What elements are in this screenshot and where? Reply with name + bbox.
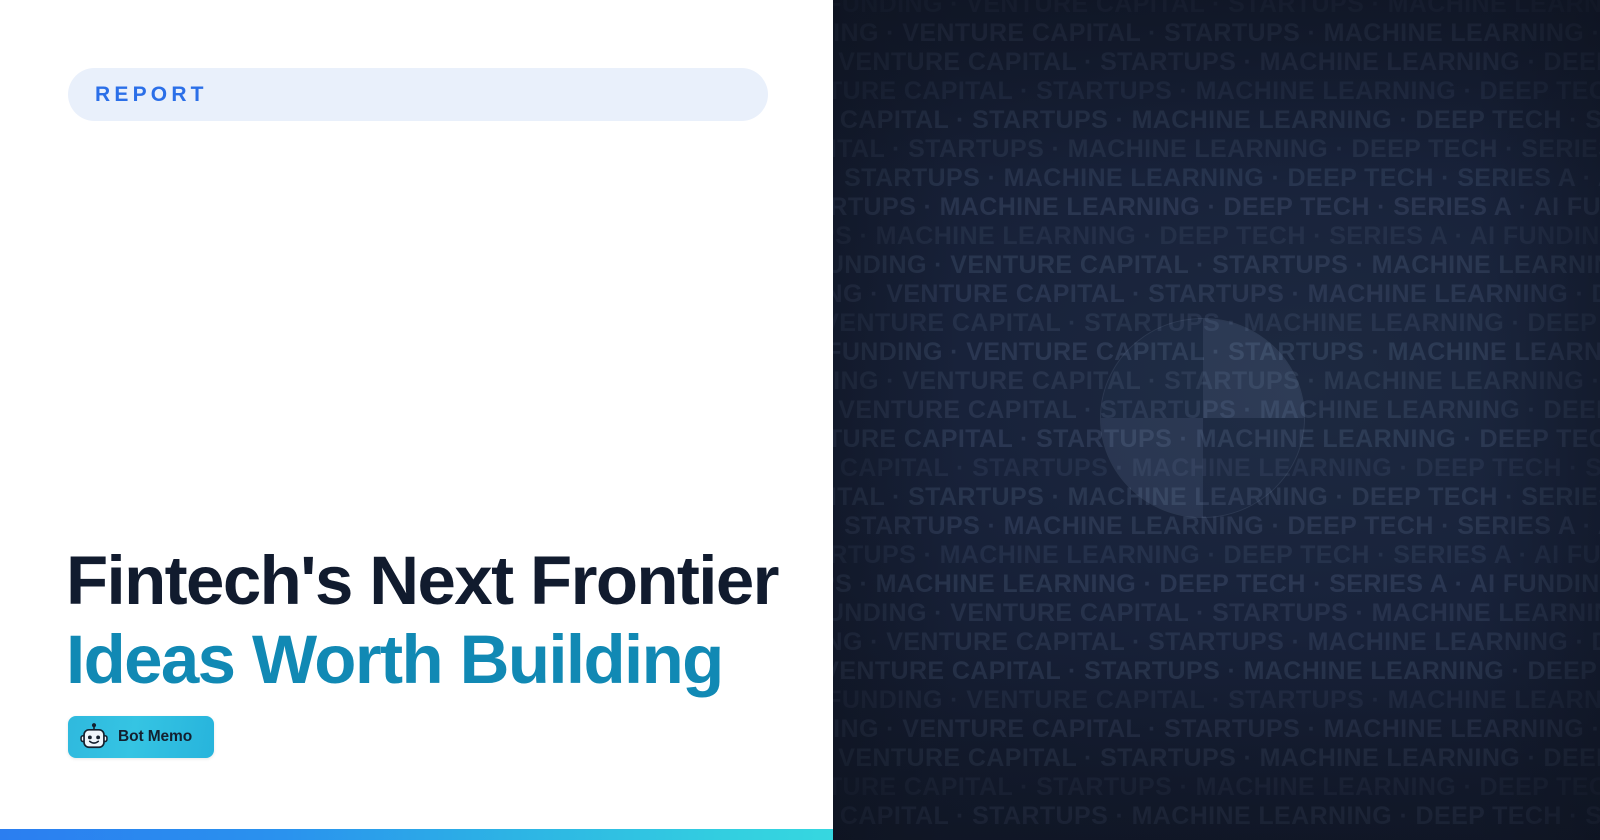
ticker-row: AI FUNDING · VENTURE CAPITAL · STARTUPS … — [833, 688, 1600, 713]
ticker-row: AI FUNDING · VENTURE CAPITAL · STARTUPS … — [833, 775, 1600, 800]
quadrant-circle-motif — [1100, 318, 1305, 518]
bottom-accent-bar — [0, 829, 833, 840]
ticker-row: AI FUNDING · VENTURE CAPITAL · STARTUPS … — [833, 21, 1600, 46]
ticker-row: AI FUNDING · VENTURE CAPITAL · STARTUPS … — [833, 166, 1600, 191]
report-cover-slide: AI FUNDING · VENTURE CAPITAL · STARTUPS … — [0, 0, 1600, 840]
ticker-row: AI FUNDING · VENTURE CAPITAL · STARTUPS … — [833, 224, 1600, 249]
page-title-line-primary: Fintech's Next Frontier — [66, 546, 826, 615]
ticker-row: AI FUNDING · VENTURE CAPITAL · STARTUPS … — [833, 50, 1600, 75]
circle-quadrant-bottom-right — [1203, 418, 1305, 517]
ticker-row: AI FUNDING · VENTURE CAPITAL · STARTUPS … — [833, 253, 1600, 278]
ticker-row: AI FUNDING · VENTURE CAPITAL · STARTUPS … — [833, 630, 1600, 655]
robot-icon — [79, 722, 109, 752]
ticker-row: AI FUNDING · VENTURE CAPITAL · STARTUPS … — [833, 804, 1600, 829]
decorative-right-panel: AI FUNDING · VENTURE CAPITAL · STARTUPS … — [833, 0, 1600, 840]
ticker-row: AI FUNDING · VENTURE CAPITAL · STARTUPS … — [833, 659, 1600, 684]
brand-logo-badge[interactable]: Bot Memo — [68, 716, 214, 758]
ticker-row: AI FUNDING · VENTURE CAPITAL · STARTUPS … — [833, 282, 1600, 307]
circle-quadrant-top-right — [1203, 319, 1305, 418]
page-title-line-accent: Ideas Worth Building — [66, 625, 826, 694]
ticker-row: AI FUNDING · VENTURE CAPITAL · STARTUPS … — [833, 108, 1600, 133]
ticker-row: AI FUNDING · VENTURE CAPITAL · STARTUPS … — [833, 79, 1600, 104]
ticker-row: AI FUNDING · VENTURE CAPITAL · STARTUPS … — [833, 514, 1600, 539]
ticker-row: AI FUNDING · VENTURE CAPITAL · STARTUPS … — [833, 746, 1600, 771]
report-kicker-label: REPORT — [95, 83, 208, 107]
brand-logo-label: Bot Memo — [118, 728, 192, 746]
ticker-row: AI FUNDING · VENTURE CAPITAL · STARTUPS … — [833, 717, 1600, 742]
ticker-row: AI FUNDING · VENTURE CAPITAL · STARTUPS … — [833, 0, 1600, 17]
ticker-row: AI FUNDING · VENTURE CAPITAL · STARTUPS … — [833, 601, 1600, 626]
ticker-row: AI FUNDING · VENTURE CAPITAL · STARTUPS … — [833, 572, 1600, 597]
page-title: Fintech's Next Frontier Ideas Worth Buil… — [66, 546, 826, 694]
content-left-panel: REPORT Fintech's Next Frontier Ideas Wor… — [0, 0, 833, 840]
ticker-row: AI FUNDING · VENTURE CAPITAL · STARTUPS … — [833, 195, 1600, 220]
circle-quadrant-bottom-left — [1101, 418, 1203, 517]
ticker-row: AI FUNDING · VENTURE CAPITAL · STARTUPS … — [833, 137, 1600, 162]
circle-quadrant-top-left — [1101, 319, 1203, 418]
report-kicker-badge: REPORT — [68, 68, 768, 121]
ticker-row: AI FUNDING · VENTURE CAPITAL · STARTUPS … — [833, 543, 1600, 568]
